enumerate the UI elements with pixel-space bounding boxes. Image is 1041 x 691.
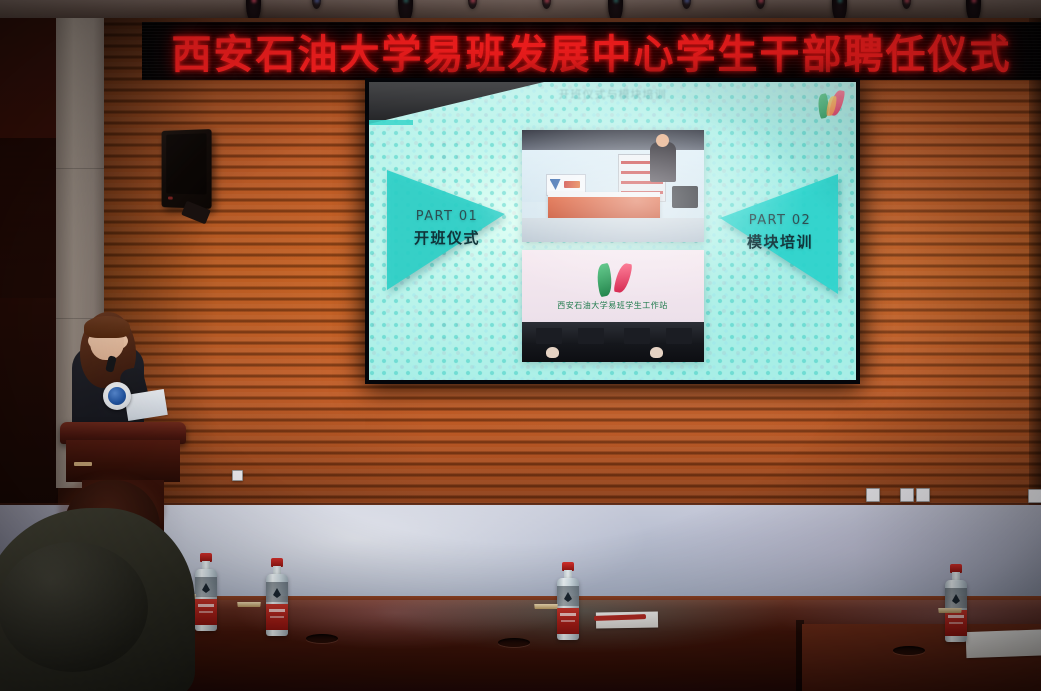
part-02-number: PART 02 <box>728 212 832 230</box>
paper-sheet <box>966 628 1041 658</box>
speaker-led <box>168 197 173 200</box>
podium-nameplate <box>74 462 92 466</box>
part-01-number: PART 01 <box>395 208 499 226</box>
slide-photo-workstation: 西安石油大学易班学生工作站 <box>522 250 704 362</box>
speaker-grill <box>166 133 206 194</box>
slide-accent-bar <box>369 120 413 125</box>
wall-outlet <box>916 488 930 502</box>
wall-outlet <box>866 488 880 502</box>
projection-screen-frame: 开班仪式与模块培训 西安石油大学易班学生工作站 <box>365 78 860 384</box>
cable-grommet <box>306 634 338 643</box>
banner-text: 西安石油大学易班发展中心学生干部聘任仪式 <box>172 22 1012 80</box>
wall-outlet <box>232 470 243 481</box>
cable-grommet <box>893 646 925 655</box>
part-02-title: 模块培训 <box>728 232 832 252</box>
part-01-label: PART 01 开班仪式 <box>395 208 499 248</box>
projection-screen: 开班仪式与模块培训 西安石油大学易班学生工作站 <box>369 82 856 380</box>
foreground-attendee <box>0 480 210 691</box>
attendee-jacket <box>0 508 195 691</box>
yiban-logo <box>818 90 844 120</box>
water-bottle <box>556 562 580 640</box>
led-banner: 西安石油大学易班发展中心学生干部聘任仪式 <box>142 22 1041 80</box>
presenter-fringe <box>84 316 130 338</box>
cable-grommet <box>498 638 530 647</box>
university-emblem-icon <box>103 382 131 410</box>
wall-outlet <box>900 488 914 502</box>
slide-title: 开班仪式与模块培训 <box>369 86 856 102</box>
water-bottle <box>265 558 289 636</box>
part-02-label: PART 02 模块培训 <box>728 212 832 252</box>
wall-speaker <box>162 129 212 209</box>
wall-right-edge <box>1029 18 1041 511</box>
slide-photo-opening-ceremony <box>522 130 704 242</box>
wall-outlet <box>1028 489 1041 503</box>
slide-photo-caption: 西安石油大学易班学生工作站 <box>522 300 704 311</box>
auditorium-scene: 西安石油大学易班发展中心学生干部聘任仪式 开班仪式与模块培训 <box>0 0 1041 691</box>
part-01-title: 开班仪式 <box>395 228 499 248</box>
